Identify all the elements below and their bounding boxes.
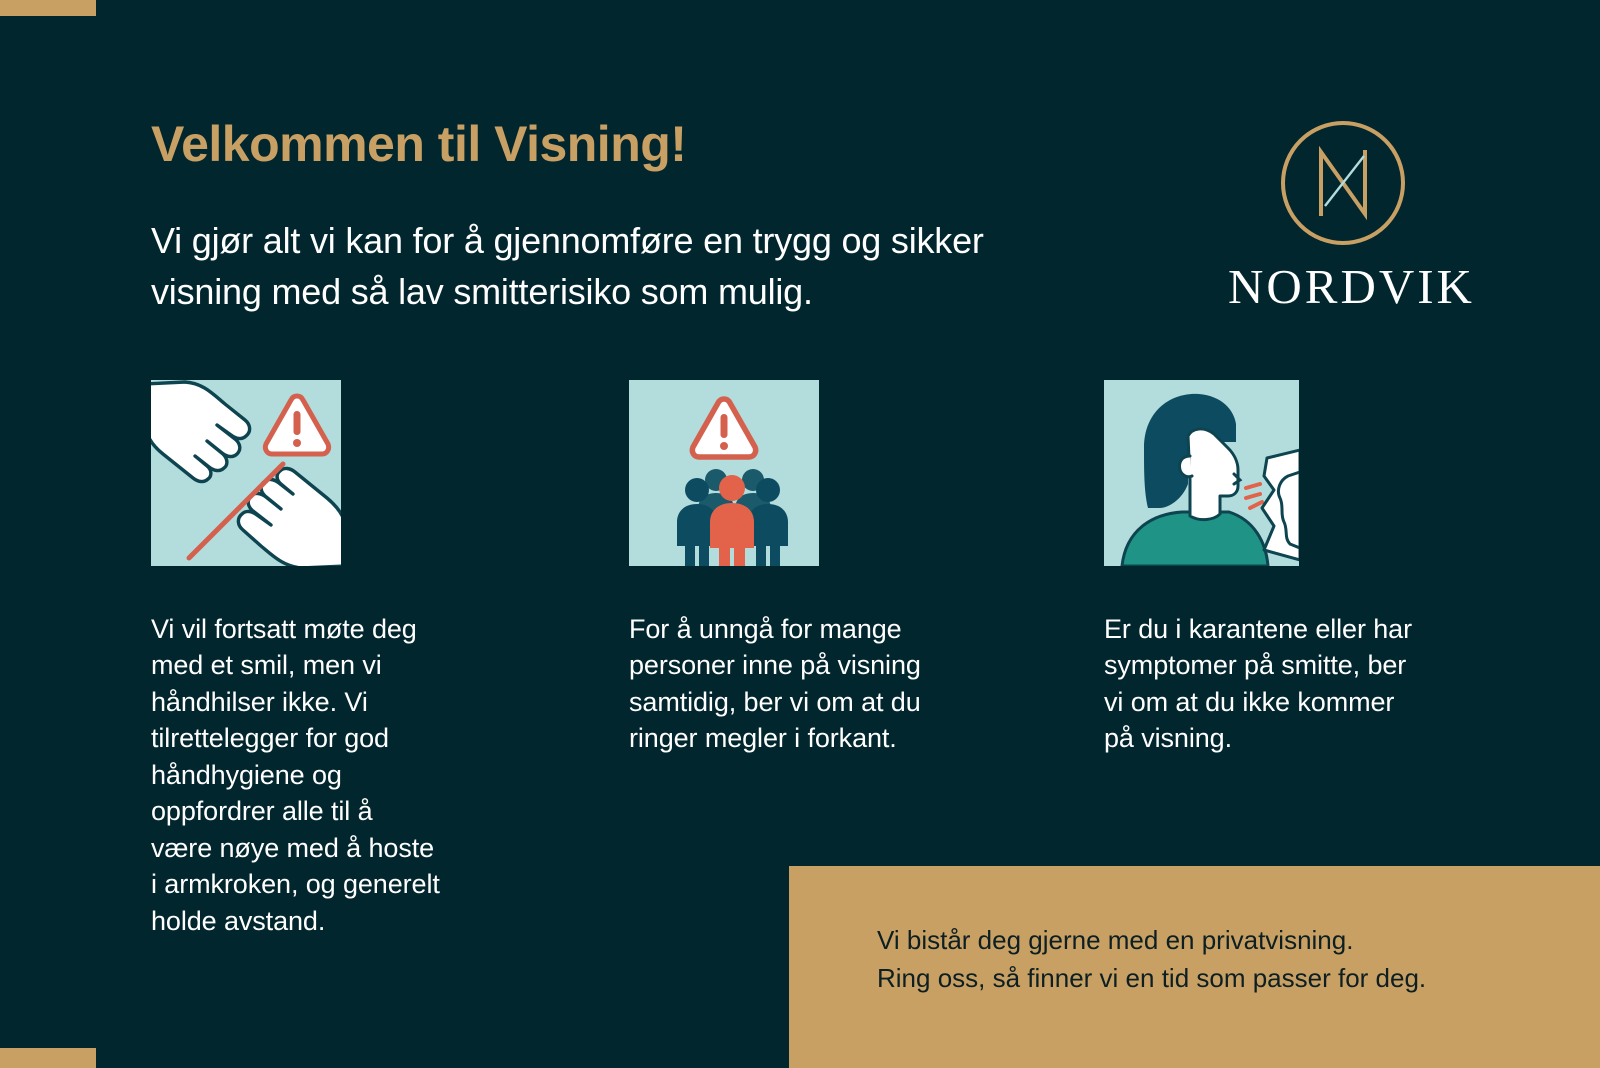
footer-banner: Vi bistår deg gjerne med en privatvisnin… (789, 866, 1600, 1068)
no-handshake-icon (151, 380, 341, 566)
nordvik-monogram-icon (1278, 118, 1408, 248)
page-subtitle: Vi gjør alt vi kan for å gjennomføre en … (151, 215, 1051, 317)
info-column-3: Er du i karantene eller har symptomer på… (1104, 380, 1474, 757)
cough-into-tissue-icon (1104, 380, 1299, 566)
brand-wordmark: NORDVIK (1228, 258, 1458, 315)
info-column-2-text: For å unngå for mange personer inne på v… (629, 611, 969, 757)
poster-root: Velkommen til Visning! Vi gjør alt vi ka… (0, 0, 1600, 1068)
footer-banner-text: Vi bistår deg gjerne med en privatvisnin… (877, 922, 1426, 997)
gold-accent-bar-top (0, 0, 96, 16)
page-title: Velkommen til Visning! (151, 115, 686, 173)
crowd-warning-icon (629, 380, 819, 566)
info-column-2: For å unngå for mange personer inne på v… (629, 380, 969, 757)
gold-accent-bar-bottom (0, 1048, 96, 1068)
info-column-1: Vi vil fortsatt møte deg med et smil, me… (151, 380, 491, 939)
brand-logo: NORDVIK (1228, 118, 1458, 315)
info-column-1-text: Vi vil fortsatt møte deg med et smil, me… (151, 611, 491, 939)
info-column-3-text: Er du i karantene eller har symptomer på… (1104, 611, 1474, 757)
